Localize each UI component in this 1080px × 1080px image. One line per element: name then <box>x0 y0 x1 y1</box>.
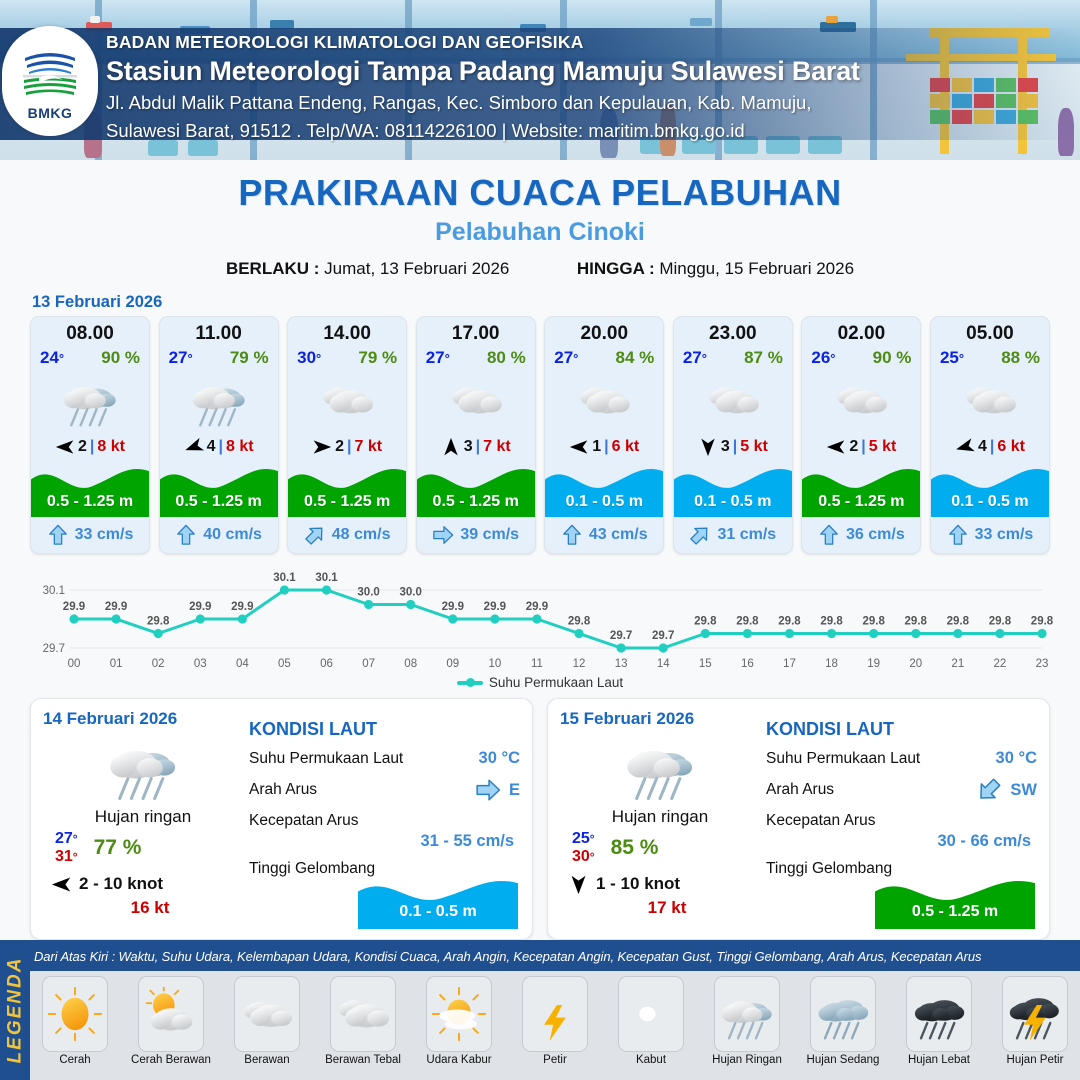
card-time: 02.00 <box>802 317 920 345</box>
svg-text:29.7: 29.7 <box>652 630 674 642</box>
card-time: 14.00 <box>288 317 406 345</box>
daily-wind-row: 2 - 10 knot <box>43 874 243 895</box>
daily-temperatures: 25° 30° <box>572 830 595 867</box>
svg-text:30.1: 30.1 <box>43 585 65 597</box>
card-wave-zone: 0.5 - 1.25 m <box>417 461 535 517</box>
sst-chart: 29.730.129.90029.90129.80229.90329.90430… <box>26 562 1054 674</box>
card-wave-zone: 0.1 - 0.5 m <box>931 461 1049 517</box>
card-wind-row: 4 | 6 kt <box>931 431 1049 463</box>
current-direction-row: Arah Arus E <box>249 777 520 803</box>
daily-left-column: 15 Februari 2026 Hujan ringan 25° 30° <box>560 709 760 931</box>
card-current-speed: 31 cm/s <box>717 526 776 544</box>
svg-text:29.8: 29.8 <box>1031 616 1054 628</box>
current-direction-value-group: E <box>475 777 520 803</box>
card-wind-speed: 3 <box>721 438 730 456</box>
card-temp-humidity-row: 25° 88 % <box>931 345 1049 368</box>
current-speed-label: Kecepatan Arus <box>766 812 875 830</box>
hourly-forecast-row: 08.00 24° 90 % 2 | 8 kt <box>0 316 1080 554</box>
legend-item-label: Hujan Petir <box>1007 1054 1064 1066</box>
card-temp-humidity-row: 27° 79 % <box>160 345 278 368</box>
bmkg-logo-icon <box>19 42 81 104</box>
svg-text:11: 11 <box>531 658 543 670</box>
wind-separator: | <box>861 438 865 456</box>
page-header: BMKG BADAN METEOROLOGI KLIMATOLOGI DAN G… <box>0 0 1080 160</box>
current-speed-value: 30 - 66 cm/s <box>766 832 1037 851</box>
legend-icon-hujan-ringan-icon <box>714 976 780 1052</box>
svg-text:18: 18 <box>825 658 838 670</box>
svg-text:30.1: 30.1 <box>273 572 296 584</box>
card-time: 20.00 <box>545 317 663 345</box>
legend-side-label: LEGENDA <box>0 940 30 1080</box>
card-humidity: 90 % <box>873 348 912 368</box>
svg-text:29.9: 29.9 <box>231 601 253 613</box>
daily-wind-direction-arrow-icon <box>568 874 589 895</box>
card-wave-height: 0.5 - 1.25 m <box>417 493 535 511</box>
daily-temp-min: 25° <box>572 830 595 848</box>
card-wind-row: 2 | 5 kt <box>802 431 920 463</box>
current-speed-label: Kecepatan Arus <box>249 812 358 830</box>
svg-text:07: 07 <box>362 658 375 670</box>
hourly-card: 11.00 27° 79 % 4 | 8 kt <box>159 316 279 554</box>
wind-direction-arrow-icon <box>312 437 332 457</box>
daily-summary-panel: 15 Februari 2026 Hujan ringan 25° 30° <box>547 698 1050 940</box>
card-gust: 7 kt <box>355 438 383 456</box>
svg-text:03: 03 <box>194 658 207 670</box>
card-weather-icon-berawan <box>288 369 406 431</box>
svg-text:08: 08 <box>404 658 417 670</box>
daily-left-column: 14 Februari 2026 Hujan ringan 27° 31° <box>43 709 243 931</box>
legend-item: Udara Kabur <box>420 976 498 1080</box>
svg-text:23: 23 <box>1036 658 1049 670</box>
card-current-row: 33 cm/s <box>931 517 1049 553</box>
card-temperature: 25° <box>940 348 964 368</box>
card-current-row: 33 cm/s <box>31 517 149 553</box>
chart-legend-marker-icon <box>457 681 483 685</box>
card-weather-icon-hujan-ringan <box>160 369 278 431</box>
legend-item-label: Petir <box>543 1054 567 1066</box>
current-direction-arrow-icon <box>947 524 969 546</box>
address-line-2: Sulawesi Barat, 91512 . Telp/WA: 0811422… <box>106 119 860 143</box>
card-gust: 8 kt <box>226 438 254 456</box>
daily-temp-max: 30° <box>572 848 595 866</box>
legend-item: Hujan Ringan <box>708 976 786 1080</box>
card-wind-row: 3 | 5 kt <box>674 431 792 463</box>
daily-gust: 16 kt <box>43 898 243 918</box>
daily-sea-conditions: KONDISI LAUT Suhu Permukaan Laut 30 °C A… <box>243 709 520 931</box>
daily-temp-min: 27° <box>55 830 78 848</box>
sea-conditions-title: KONDISI LAUT <box>766 719 1037 740</box>
svg-text:19: 19 <box>867 658 880 670</box>
current-direction-arrow-icon <box>561 524 583 546</box>
svg-text:29.8: 29.8 <box>147 616 170 628</box>
daily-sea-conditions: KONDISI LAUT Suhu Permukaan Laut 30 °C A… <box>760 709 1037 931</box>
svg-text:29.8: 29.8 <box>947 616 970 628</box>
wind-separator: | <box>218 438 222 456</box>
card-weather-icon-berawan <box>417 369 535 431</box>
card-time: 23.00 <box>674 317 792 345</box>
card-humidity: 80 % <box>487 348 526 368</box>
current-direction-arrow-icon <box>818 524 840 546</box>
daily-current-arrow-icon <box>475 777 501 803</box>
daily-humidity: 85 % <box>611 836 659 860</box>
svg-text:29.8: 29.8 <box>905 616 928 628</box>
card-temperature: 27° <box>683 348 707 368</box>
svg-text:29.8: 29.8 <box>778 616 801 628</box>
wave-height-label: Tinggi Gelombang <box>766 860 892 878</box>
card-humidity: 88 % <box>1001 348 1040 368</box>
svg-text:29.9: 29.9 <box>526 601 548 613</box>
card-wave-height: 0.1 - 0.5 m <box>545 493 663 511</box>
card-wave-height: 0.1 - 0.5 m <box>674 493 792 511</box>
wind-direction-arrow-icon <box>698 437 718 457</box>
hourly-card: 17.00 27° 80 % 3 | 7 kt <box>416 316 536 554</box>
legend-item: Hujan Sedang <box>804 976 882 1080</box>
svg-text:29.7: 29.7 <box>610 630 632 642</box>
card-gust: 6 kt <box>997 438 1025 456</box>
card-temperature: 26° <box>811 348 835 368</box>
daily-wave-graphic: 0.5 - 1.25 m <box>875 875 1035 929</box>
svg-text:01: 01 <box>110 658 123 670</box>
card-wind-row: 2 | 8 kt <box>31 431 149 463</box>
daily-gust: 17 kt <box>560 898 760 918</box>
card-humidity: 90 % <box>101 348 140 368</box>
svg-text:30.0: 30.0 <box>400 587 422 599</box>
daily-humidity: 77 % <box>94 836 142 860</box>
current-speed-row: Kecepatan Arus <box>766 812 1037 830</box>
current-speed-value: 31 - 55 cm/s <box>249 832 520 851</box>
legend-items-strip: Cerah Cerah Berawan <box>30 971 1080 1080</box>
current-direction-label: Arah Arus <box>766 781 834 799</box>
card-wave-height: 0.1 - 0.5 m <box>931 493 1049 511</box>
svg-text:14: 14 <box>657 658 670 670</box>
agency-name: BADAN METEOROLOGI KLIMATOLOGI DAN GEOFIS… <box>106 32 860 53</box>
hingga-label: HINGGA : <box>577 259 655 278</box>
daily-weather-icon-hujan-ringan <box>560 731 760 803</box>
svg-text:29.8: 29.8 <box>862 616 885 628</box>
legend-item-label: Berawan Tebal <box>325 1054 401 1066</box>
current-direction-label: Arah Arus <box>249 781 317 799</box>
svg-text:05: 05 <box>278 658 291 670</box>
card-wind-row: 2 | 7 kt <box>288 431 406 463</box>
svg-text:29.8: 29.8 <box>820 616 843 628</box>
hourly-day-label: 13 Februari 2026 <box>32 293 1080 312</box>
card-current-speed: 33 cm/s <box>975 526 1034 544</box>
card-wave-zone: 0.5 - 1.25 m <box>31 461 149 517</box>
wind-direction-arrow-icon <box>441 437 461 457</box>
daily-date: 15 Februari 2026 <box>560 709 760 729</box>
card-current-speed: 48 cm/s <box>332 526 391 544</box>
current-direction-value: SW <box>1010 781 1037 800</box>
card-wind-speed: 3 <box>464 438 473 456</box>
svg-text:30.0: 30.0 <box>357 587 379 599</box>
card-current-row: 39 cm/s <box>417 517 535 553</box>
legend-icon-hujan-lebat-icon <box>906 976 972 1052</box>
svg-text:29.9: 29.9 <box>189 601 211 613</box>
address-line-1: Jl. Abdul Malik Pattana Endeng, Rangas, … <box>106 91 860 115</box>
sea-conditions-title: KONDISI LAUT <box>249 719 520 740</box>
card-weather-icon-berawan <box>545 369 663 431</box>
card-temperature: 30° <box>297 348 321 368</box>
daily-weather-icon-hujan-ringan <box>43 731 243 803</box>
current-direction-arrow-icon <box>47 524 69 546</box>
card-time: 08.00 <box>31 317 149 345</box>
wind-direction-arrow-icon <box>955 437 975 457</box>
legend-item-label: Kabut <box>636 1054 666 1066</box>
wind-separator: | <box>604 438 608 456</box>
card-wave-zone: 0.1 - 0.5 m <box>545 461 663 517</box>
card-wave-zone: 0.5 - 1.25 m <box>802 461 920 517</box>
svg-text:04: 04 <box>236 658 249 670</box>
title-section: PRAKIRAAN CUACA PELABUHAN Pelabuhan Cino… <box>0 160 1080 279</box>
daily-wave-height-value: 0.1 - 0.5 m <box>358 903 518 921</box>
card-temperature: 27° <box>169 348 193 368</box>
sst-label: Suhu Permukaan Laut <box>766 750 920 768</box>
card-temp-humidity-row: 30° 79 % <box>288 345 406 368</box>
card-wind-speed: 4 <box>978 438 987 456</box>
svg-text:13: 13 <box>615 658 628 670</box>
card-current-row: 36 cm/s <box>802 517 920 553</box>
chart-legend-label: Suhu Permukaan Laut <box>489 675 623 690</box>
hingga-value: Minggu, 15 Februari 2026 <box>659 259 854 278</box>
station-name: Stasiun Meteorologi Tampa Padang Mamuju … <box>106 56 860 87</box>
card-wind-speed: 2 <box>849 438 858 456</box>
card-temperature: 27° <box>554 348 578 368</box>
svg-text:02: 02 <box>152 658 165 670</box>
daily-condition: Hujan ringan <box>43 807 243 827</box>
hourly-card: 20.00 27° 84 % 1 | 6 kt <box>544 316 664 554</box>
svg-text:16: 16 <box>741 658 754 670</box>
svg-text:30.1: 30.1 <box>315 572 338 584</box>
header-text-block: BADAN METEOROLOGI KLIMATOLOGI DAN GEOFIS… <box>106 32 860 142</box>
svg-text:10: 10 <box>488 658 501 670</box>
card-wave-height: 0.5 - 1.25 m <box>31 493 149 511</box>
card-current-row: 31 cm/s <box>674 517 792 553</box>
card-gust: 8 kt <box>97 438 125 456</box>
svg-text:17: 17 <box>783 658 796 670</box>
sst-label: Suhu Permukaan Laut <box>249 750 403 768</box>
card-temp-humidity-row: 27° 80 % <box>417 345 535 368</box>
svg-text:20: 20 <box>909 658 922 670</box>
svg-text:29.9: 29.9 <box>484 601 506 613</box>
svg-text:00: 00 <box>68 658 81 670</box>
card-weather-icon-berawan <box>802 369 920 431</box>
daily-summary-row: 14 Februari 2026 Hujan ringan 27° 31° <box>0 690 1080 940</box>
legend-item: Cerah Berawan <box>132 976 210 1080</box>
card-wave-height: 0.5 - 1.25 m <box>288 493 406 511</box>
wind-direction-arrow-icon <box>55 437 75 457</box>
svg-text:06: 06 <box>320 658 333 670</box>
legend-note: Dari Atas Kiri : Waktu, Suhu Udara, Kele… <box>34 949 1074 964</box>
bmkg-logo: BMKG <box>2 26 98 136</box>
card-wind-speed: 2 <box>335 438 344 456</box>
card-humidity: 87 % <box>744 348 783 368</box>
daily-temp-humidity-row: 27° 31° 77 % <box>43 830 243 867</box>
card-temp-humidity-row: 24° 90 % <box>31 345 149 368</box>
svg-text:29.9: 29.9 <box>63 601 85 613</box>
card-humidity: 79 % <box>358 348 397 368</box>
card-wave-zone: 0.5 - 1.25 m <box>160 461 278 517</box>
card-humidity: 79 % <box>230 348 269 368</box>
svg-text:09: 09 <box>446 658 459 670</box>
svg-text:29.8: 29.8 <box>736 616 759 628</box>
card-wind-speed: 1 <box>592 438 601 456</box>
svg-text:29.7: 29.7 <box>43 643 65 655</box>
svg-text:29.8: 29.8 <box>568 616 591 628</box>
card-wind-row: 1 | 6 kt <box>545 431 663 463</box>
card-temperature: 27° <box>426 348 450 368</box>
current-direction-arrow-icon <box>175 524 197 546</box>
card-gust: 5 kt <box>740 438 768 456</box>
legend-icon-cerah-icon <box>42 976 108 1052</box>
current-speed-row: Kecepatan Arus <box>249 812 520 830</box>
card-gust: 6 kt <box>612 438 640 456</box>
legend-item-label: Hujan Sedang <box>807 1054 880 1066</box>
legend-icon-kabut-icon <box>618 976 684 1052</box>
card-wind-row: 3 | 7 kt <box>417 431 535 463</box>
card-wave-zone: 0.1 - 0.5 m <box>674 461 792 517</box>
card-temp-humidity-row: 27° 87 % <box>674 345 792 368</box>
legend-item: Kabut <box>612 976 690 1080</box>
daily-wind-range: 1 - 10 knot <box>596 874 680 894</box>
card-weather-icon-berawan <box>931 369 1049 431</box>
card-gust: 7 kt <box>483 438 511 456</box>
legend-item: Hujan Petir <box>996 976 1074 1080</box>
legend-item-label: Udara Kabur <box>426 1054 491 1066</box>
daily-wind-range: 2 - 10 knot <box>79 874 163 894</box>
card-temp-humidity-row: 27° 84 % <box>545 345 663 368</box>
daily-temp-humidity-row: 25° 30° 85 % <box>560 830 760 867</box>
card-current-speed: 39 cm/s <box>460 526 519 544</box>
daily-date: 14 Februari 2026 <box>43 709 243 729</box>
legend-item: Berawan Tebal <box>324 976 402 1080</box>
legend-item: Hujan Lebat <box>900 976 978 1080</box>
card-current-row: 48 cm/s <box>288 517 406 553</box>
sst-row: Suhu Permukaan Laut 30 °C <box>249 749 520 768</box>
daily-temp-max: 31° <box>55 848 78 866</box>
berlaku-value: Jumat, 13 Februari 2026 <box>324 259 509 278</box>
bmkg-logo-text: BMKG <box>28 105 73 121</box>
daily-wave-height-value: 0.5 - 1.25 m <box>875 903 1035 921</box>
current-direction-arrow-icon <box>304 524 326 546</box>
svg-text:29.8: 29.8 <box>989 616 1012 628</box>
wind-separator: | <box>476 438 480 456</box>
hourly-card: 23.00 27° 87 % 3 | 5 kt <box>673 316 793 554</box>
legend-icon-hujan-sedang-icon <box>810 976 876 1052</box>
current-direction-arrow-icon <box>689 524 711 546</box>
daily-condition: Hujan ringan <box>560 807 760 827</box>
card-temperature: 24° <box>40 348 64 368</box>
current-direction-row: Arah Arus SW <box>766 777 1037 803</box>
validity-row: BERLAKU : Jumat, 13 Februari 2026 HINGGA… <box>0 259 1080 279</box>
wind-separator: | <box>990 438 994 456</box>
card-wind-speed: 2 <box>78 438 87 456</box>
card-time: 05.00 <box>931 317 1049 345</box>
hourly-card: 02.00 26° 90 % 2 | 5 kt <box>801 316 921 554</box>
legend-section: LEGENDA Dari Atas Kiri : Waktu, Suhu Uda… <box>0 940 1080 1080</box>
hourly-card: 08.00 24° 90 % 2 | 8 kt <box>30 316 150 554</box>
wind-direction-arrow-icon <box>826 437 846 457</box>
card-wind-speed: 4 <box>207 438 216 456</box>
card-time: 11.00 <box>160 317 278 345</box>
legend-icon-udara-kabur-icon <box>426 976 492 1052</box>
legend-item: Petir <box>516 976 594 1080</box>
daily-wind-direction-arrow-icon <box>51 874 72 895</box>
current-direction-value: E <box>509 781 520 800</box>
legend-item-label: Berawan <box>244 1054 289 1066</box>
svg-text:29.8: 29.8 <box>694 616 717 628</box>
card-current-row: 40 cm/s <box>160 517 278 553</box>
legend-item-label: Cerah <box>59 1054 90 1066</box>
daily-wave-graphic: 0.1 - 0.5 m <box>358 875 518 929</box>
legend-icon-berawan-icon <box>234 976 300 1052</box>
wind-separator: | <box>733 438 737 456</box>
svg-text:21: 21 <box>951 658 964 670</box>
card-gust: 5 kt <box>869 438 897 456</box>
card-wave-height: 0.5 - 1.25 m <box>160 493 278 511</box>
hourly-card: 14.00 30° 79 % 2 | 7 kt <box>287 316 407 554</box>
legend-item: Berawan <box>228 976 306 1080</box>
chart-legend: Suhu Permukaan Laut <box>0 675 1080 690</box>
wind-separator: | <box>90 438 94 456</box>
sst-value: 30 °C <box>996 749 1037 768</box>
card-weather-icon-berawan <box>674 369 792 431</box>
card-current-speed: 36 cm/s <box>846 526 905 544</box>
current-direction-arrow-icon <box>432 524 454 546</box>
legend-item: Cerah <box>36 976 114 1080</box>
hourly-card: 05.00 25° 88 % 4 | 6 kt <box>930 316 1050 554</box>
card-time: 17.00 <box>417 317 535 345</box>
svg-text:29.9: 29.9 <box>105 601 127 613</box>
svg-text:12: 12 <box>573 658 586 670</box>
daily-wind-row: 1 - 10 knot <box>560 874 760 895</box>
svg-text:29.9: 29.9 <box>442 601 464 613</box>
card-current-speed: 33 cm/s <box>75 526 134 544</box>
legend-icon-cerah-berawan-icon <box>138 976 204 1052</box>
page-title: PRAKIRAAN CUACA PELABUHAN <box>0 172 1080 214</box>
card-current-speed: 40 cm/s <box>203 526 262 544</box>
legend-item-label: Hujan Ringan <box>712 1054 782 1066</box>
legend-icon-hujan-petir-icon <box>1002 976 1068 1052</box>
sst-row: Suhu Permukaan Laut 30 °C <box>766 749 1037 768</box>
svg-text:22: 22 <box>994 658 1007 670</box>
legend-item-label: Cerah Berawan <box>131 1054 211 1066</box>
daily-temperatures: 27° 31° <box>55 830 78 867</box>
wave-height-label: Tinggi Gelombang <box>249 860 375 878</box>
card-wave-zone: 0.5 - 1.25 m <box>288 461 406 517</box>
card-humidity: 84 % <box>616 348 655 368</box>
card-temp-humidity-row: 26° 90 % <box>802 345 920 368</box>
legend-item-label: Hujan Lebat <box>908 1054 970 1066</box>
wind-direction-arrow-icon <box>184 437 204 457</box>
card-current-row: 43 cm/s <box>545 517 663 553</box>
berlaku-label: BERLAKU : <box>226 259 320 278</box>
port-name: Pelabuhan Cinoki <box>0 218 1080 247</box>
daily-summary-panel: 14 Februari 2026 Hujan ringan 27° 31° <box>30 698 533 940</box>
current-direction-value-group: SW <box>976 777 1037 803</box>
svg-text:15: 15 <box>699 658 712 670</box>
legend-icon-petir-icon <box>522 976 588 1052</box>
card-current-speed: 43 cm/s <box>589 526 648 544</box>
daily-current-arrow-icon <box>976 777 1002 803</box>
card-wind-row: 4 | 8 kt <box>160 431 278 463</box>
wind-separator: | <box>347 438 351 456</box>
wind-direction-arrow-icon <box>569 437 589 457</box>
card-weather-icon-hujan-ringan <box>31 369 149 431</box>
sst-value: 30 °C <box>479 749 520 768</box>
legend-icon-berawan-tebal-icon <box>330 976 396 1052</box>
card-wave-height: 0.5 - 1.25 m <box>802 493 920 511</box>
